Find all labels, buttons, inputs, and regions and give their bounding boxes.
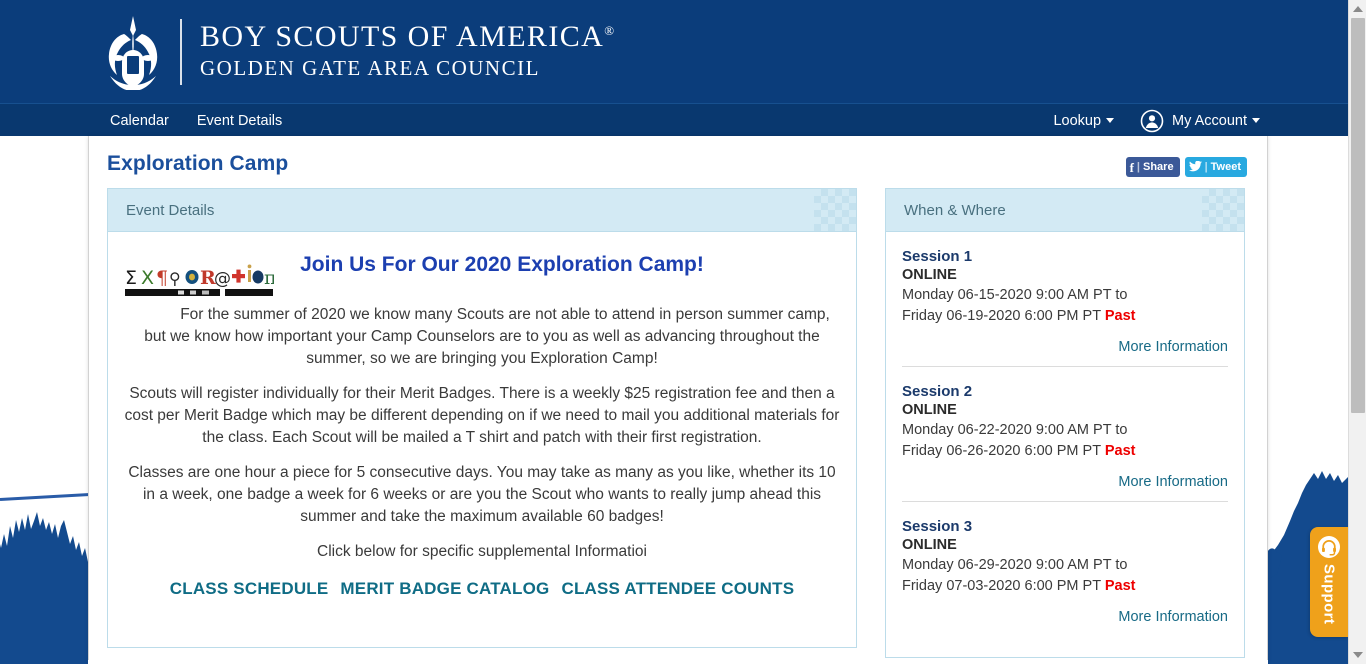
status-badge: Past	[1105, 308, 1136, 324]
svg-text:X: X	[141, 267, 154, 289]
page-root: BOY SCOUTS OF AMERICA® GOLDEN GATE AREA …	[0, 0, 1366, 664]
event-details-panel: Event Details Σ X ¶ ⚲ R @	[107, 188, 857, 648]
page-title: Exploration Camp	[107, 152, 288, 176]
checkered-pattern-decoration	[814, 189, 856, 231]
scroll-up-arrow-icon[interactable]	[1353, 6, 1363, 12]
when-where-panel-title: When & Where	[904, 202, 1006, 219]
brand-line-primary: BOY SCOUTS OF AMERICA®	[200, 21, 615, 53]
brand-line1-text: BOY SCOUTS OF AMERICA	[200, 20, 604, 53]
session-block: Session 1 ONLINE Monday 06-15-2020 9:00 …	[902, 232, 1228, 367]
class-schedule-link[interactable]: CLASS SCHEDULE	[170, 577, 329, 601]
support-tab-label: Support	[1321, 564, 1338, 624]
when-where-body: Session 1 ONLINE Monday 06-15-2020 9:00 …	[886, 232, 1244, 636]
facebook-share-label: Share	[1143, 162, 1174, 173]
session-location: ONLINE	[902, 537, 1228, 553]
navbar-right-group: Lookup My Account	[1053, 104, 1260, 137]
session-name: Session 1	[902, 248, 1228, 265]
nav-item-my-account-link[interactable]: My Account	[1172, 113, 1260, 129]
status-badge: Past	[1105, 578, 1136, 594]
svg-text:Σ: Σ	[125, 267, 137, 289]
site-banner: BOY SCOUTS OF AMERICA® GOLDEN GATE AREA …	[0, 0, 1348, 103]
event-paragraph-1: For the summer of 2020 we know many Scou…	[124, 304, 840, 370]
navbar-left-group: Calendar Event Details	[110, 104, 282, 137]
session-start-datetime: Monday 06-15-2020 9:00 AM PT to	[902, 285, 1228, 306]
facebook-icon: f	[1130, 161, 1134, 174]
brand-trademark: ®	[604, 23, 615, 38]
session-end-datetime-row: Friday 07-03-2020 6:00 PM PT Past	[902, 576, 1228, 597]
more-information-link[interactable]: More Information	[1118, 609, 1228, 625]
status-badge: Past	[1105, 443, 1136, 459]
nav-item-event-details[interactable]: Event Details	[197, 113, 282, 129]
facebook-share-button[interactable]: f | Share	[1126, 157, 1180, 177]
chevron-down-icon	[1106, 118, 1114, 123]
headset-icon	[1317, 535, 1341, 559]
event-paragraph-3: Classes are one hour a piece for 5 conse…	[124, 462, 840, 528]
session-end-datetime-row: Friday 06-26-2020 6:00 PM PT Past	[902, 441, 1228, 462]
bsa-fleur-de-lis-logo-icon	[100, 14, 166, 90]
event-header-row: Σ X ¶ ⚲ R @ π	[124, 246, 840, 304]
person-circle-icon	[1140, 109, 1164, 133]
session-location: ONLINE	[902, 267, 1228, 283]
session-location: ONLINE	[902, 402, 1228, 418]
nav-item-my-account[interactable]: My Account	[1140, 109, 1260, 133]
support-tab-button[interactable]: Support	[1310, 527, 1348, 637]
facebook-separator: |	[1137, 162, 1140, 173]
event-paragraph-2: Scouts will register individually for th…	[124, 383, 840, 449]
main-navbar: Calendar Event Details Lookup My Account	[0, 103, 1348, 136]
twitter-tweet-label: Tweet	[1211, 162, 1241, 173]
more-information-link[interactable]: More Information	[1118, 339, 1228, 355]
brand-line-secondary: GOLDEN GATE AREA COUNCIL	[200, 54, 615, 82]
social-share-group: f | Share | Tweet	[1126, 157, 1247, 177]
scrollbar-thumb[interactable]	[1351, 18, 1365, 413]
session-end-datetime: Friday 06-19-2020 6:00 PM PT	[902, 308, 1101, 324]
content-card: Exploration Camp f | Share | Tweet Event…	[88, 136, 1268, 664]
when-where-panel-header: When & Where	[886, 189, 1244, 232]
session-name: Session 3	[902, 518, 1228, 535]
scroll-down-arrow-icon[interactable]	[1353, 652, 1363, 658]
twitter-bird-icon	[1189, 161, 1202, 174]
session-start-datetime: Monday 06-22-2020 9:00 AM PT to	[902, 420, 1228, 441]
chevron-down-icon	[1252, 118, 1260, 123]
more-information-row: More Information	[902, 473, 1228, 491]
nav-item-lookup-label: Lookup	[1053, 113, 1101, 129]
session-end-datetime: Friday 06-26-2020 6:00 PM PT	[902, 443, 1101, 459]
session-block: Session 2 ONLINE Monday 06-22-2020 9:00 …	[902, 367, 1228, 502]
content-card-bottom-edge	[88, 660, 1268, 664]
banner-brand: BOY SCOUTS OF AMERICA® GOLDEN GATE AREA …	[100, 0, 615, 103]
event-details-panel-header: Event Details	[108, 189, 856, 232]
event-paragraph-4: Click below for specific supplemental In…	[124, 541, 840, 563]
event-details-panel-title: Event Details	[126, 202, 214, 219]
brand-wordmark: BOY SCOUTS OF AMERICA® GOLDEN GATE AREA …	[200, 21, 615, 82]
merit-badge-catalog-link[interactable]: MERIT BADGE CATALOG	[340, 577, 549, 601]
exploration-wordmark-logo-icon: Σ X ¶ ⚲ R @ π	[124, 262, 274, 306]
svg-text:⚲: ⚲	[169, 269, 181, 288]
svg-text:@: @	[214, 269, 231, 289]
session-end-datetime: Friday 07-03-2020 6:00 PM PT	[902, 578, 1101, 594]
nav-item-my-account-label: My Account	[1172, 113, 1247, 129]
more-information-row: More Information	[902, 338, 1228, 356]
svg-text:π: π	[264, 267, 274, 289]
session-start-datetime: Monday 06-29-2020 9:00 AM PT to	[902, 555, 1228, 576]
when-where-panel: When & Where Session 1 ONLINE Monday 06-…	[885, 188, 1245, 658]
event-details-body: Σ X ¶ ⚲ R @ π	[108, 232, 856, 611]
brand-divider	[180, 19, 182, 85]
twitter-tweet-button[interactable]: | Tweet	[1185, 157, 1247, 177]
vertical-scrollbar[interactable]	[1348, 0, 1366, 664]
session-name: Session 2	[902, 383, 1228, 400]
session-block: Session 3 ONLINE Monday 06-29-2020 9:00 …	[902, 502, 1228, 636]
nav-item-lookup[interactable]: Lookup	[1053, 113, 1114, 129]
twitter-separator: |	[1205, 162, 1208, 173]
supplemental-links-row: CLASS SCHEDULE MERIT BADGE CATALOG CLASS…	[124, 577, 840, 601]
more-information-link[interactable]: More Information	[1118, 474, 1228, 490]
checkered-pattern-decoration	[1202, 189, 1244, 231]
svg-text:¶: ¶	[156, 267, 168, 289]
session-end-datetime-row: Friday 06-19-2020 6:00 PM PT Past	[902, 306, 1228, 327]
more-information-row: More Information	[902, 608, 1228, 626]
twitter-bird-glyph	[1189, 161, 1202, 172]
class-attendee-counts-link[interactable]: CLASS ATTENDEE COUNTS	[561, 577, 794, 601]
forest-silhouette-left	[0, 474, 92, 664]
nav-item-calendar[interactable]: Calendar	[110, 113, 169, 129]
